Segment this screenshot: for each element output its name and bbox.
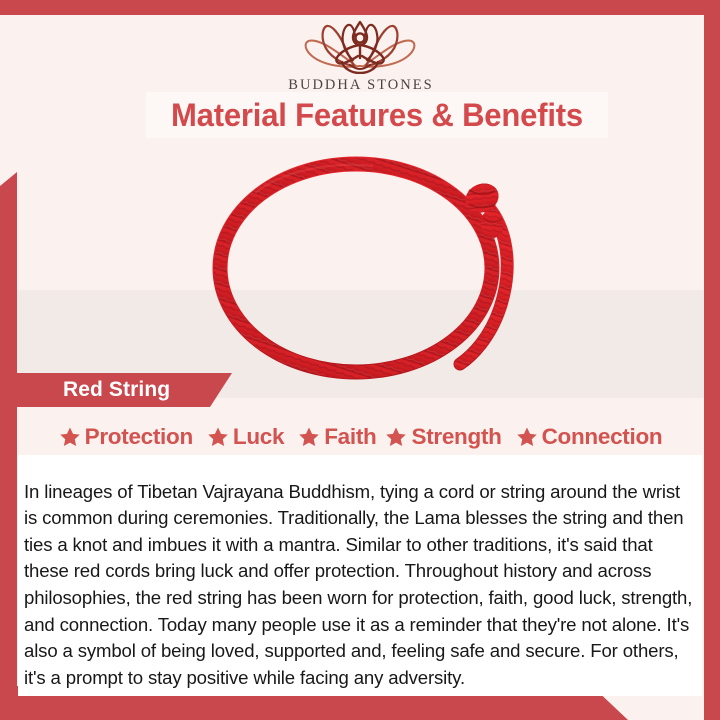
star-icon (59, 426, 81, 448)
brand-lockup: BUDDHA STONES (0, 16, 720, 94)
benefit-label: Faith (324, 424, 376, 450)
product-image (160, 148, 580, 386)
lotus-meditation-figure-icon (298, 16, 422, 74)
product-feature-poster: BUDDHA STONES Material Features & Benefi… (0, 0, 720, 720)
benefit-item: Luck (207, 424, 284, 450)
benefit-label: Strength (411, 424, 501, 450)
benefit-label: Connection (542, 424, 663, 450)
product-label-text: Red String (63, 373, 170, 407)
decorative-right-bar (704, 0, 720, 720)
benefit-item: Protection (59, 424, 193, 450)
star-icon (207, 426, 229, 448)
benefit-label: Luck (233, 424, 284, 450)
benefit-item: Strength (385, 424, 501, 450)
benefits-list: Protection Luck Faith Strength Connectio… (17, 419, 704, 455)
benefit-label: Protection (85, 424, 193, 450)
page-title: Material Features & Benefits (153, 92, 601, 138)
star-icon (516, 426, 538, 448)
description-text: In lineages of Tibetan Vajrayana Buddhis… (24, 479, 696, 692)
benefit-item: Faith (298, 424, 376, 450)
star-icon (298, 426, 320, 448)
decorative-top-bar (0, 0, 720, 15)
benefit-item: Connection (516, 424, 663, 450)
decorative-left-bar (0, 172, 17, 720)
red-braided-bracelet-icon (160, 148, 580, 386)
star-icon (385, 426, 407, 448)
